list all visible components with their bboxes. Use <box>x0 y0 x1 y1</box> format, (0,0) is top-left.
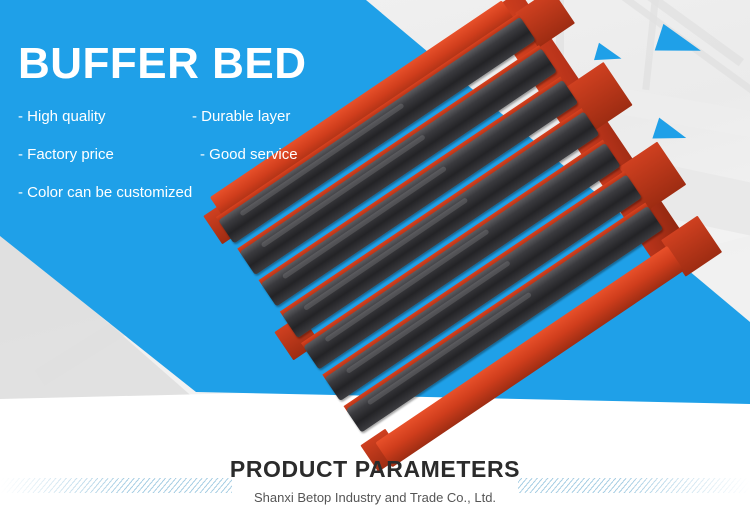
diagonal-hatch-decoration <box>518 478 750 493</box>
feature-list: - High quality - Durable layer - Factory… <box>18 108 348 222</box>
feature-item: - Durable layer <box>192 108 290 125</box>
feature-row: - Factory price - Good service <box>18 146 348 184</box>
buffer-bed-banner: BUFFER BED - High quality - Durable laye… <box>0 0 750 521</box>
feature-row: - High quality - Durable layer <box>18 108 348 146</box>
diagonal-hatch-decoration <box>0 478 232 493</box>
feature-item: - Color can be customized <box>18 184 192 201</box>
feature-item: - Good service <box>200 146 298 163</box>
feature-item: - Factory price <box>18 146 114 163</box>
footer: PRODUCT PARAMETERS Shanxi Betop Industry… <box>0 456 750 505</box>
feature-item: - High quality <box>18 108 106 125</box>
page-title: BUFFER BED <box>18 42 307 86</box>
feature-row: - Color can be customized <box>18 184 348 222</box>
